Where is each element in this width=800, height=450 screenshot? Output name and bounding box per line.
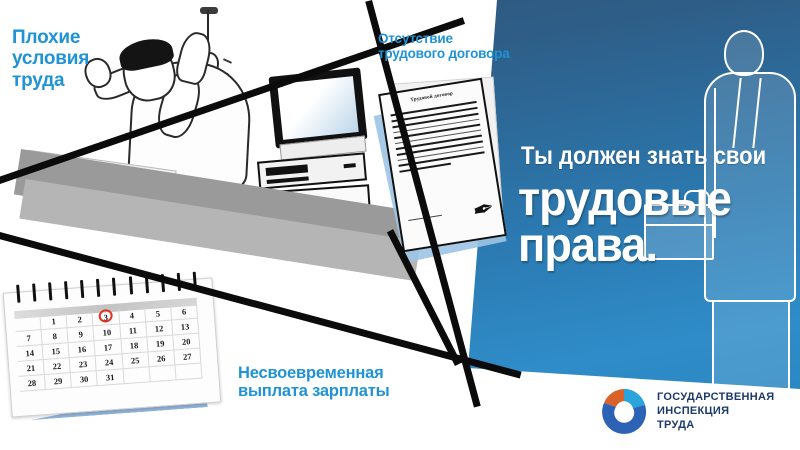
- calendar-day-cell: 31: [97, 369, 124, 386]
- bulb-ray-icon: [223, 58, 232, 64]
- caption-no-contract: Отсутствие трудового договора: [378, 31, 510, 61]
- computer-tower-icon: [257, 152, 367, 189]
- headline-line-1: Ты должен знать свои: [521, 142, 766, 171]
- calendar-empty-cell: [175, 363, 202, 380]
- headline-line-3: права.: [518, 224, 657, 268]
- caption-late-salary: Несвоевременная выплата зарплаты: [238, 364, 390, 401]
- logo-text: ГОСУДАРСТВЕННАЯ ИНСПЕКЦИЯ ТРУДА: [657, 390, 774, 432]
- calendar-day-cell: 28: [19, 375, 46, 392]
- calendar-empty-cell: [123, 367, 150, 384]
- headline-line-2: трудовые: [518, 178, 731, 222]
- businessman-legs-icon: [712, 300, 790, 390]
- businessman-head-icon: [724, 30, 764, 76]
- signature-icon: ✒: [472, 194, 495, 227]
- power-button-icon: [344, 163, 356, 168]
- calendar-empty-cell: [149, 365, 176, 382]
- poster-canvas: Трудовой договор ✒ 12345678910111213: [0, 0, 800, 450]
- calendar-day-cell: 30: [71, 371, 98, 388]
- calendar-illustration: 1234567891011121314151617181920212223242…: [3, 277, 222, 417]
- calendar-highlight-circle-icon: [97, 308, 114, 324]
- swirl-circle-logo-icon: [600, 387, 648, 435]
- calendar-day-grid: 1234567891011121314151617181920212223242…: [15, 304, 203, 392]
- calendar-day-cell: 29: [45, 373, 72, 390]
- organization-logo: ГОСУДАРСТВЕННАЯ ИНСПЕКЦИЯ ТРУДА: [600, 387, 774, 435]
- floppy-slot-icon: [266, 164, 309, 176]
- caption-bad-conditions: Плохие условия труда: [12, 27, 89, 91]
- monitor-screen: [277, 76, 358, 140]
- lamp-cap-icon: [200, 7, 218, 14]
- drive-slot-icon: [267, 176, 309, 184]
